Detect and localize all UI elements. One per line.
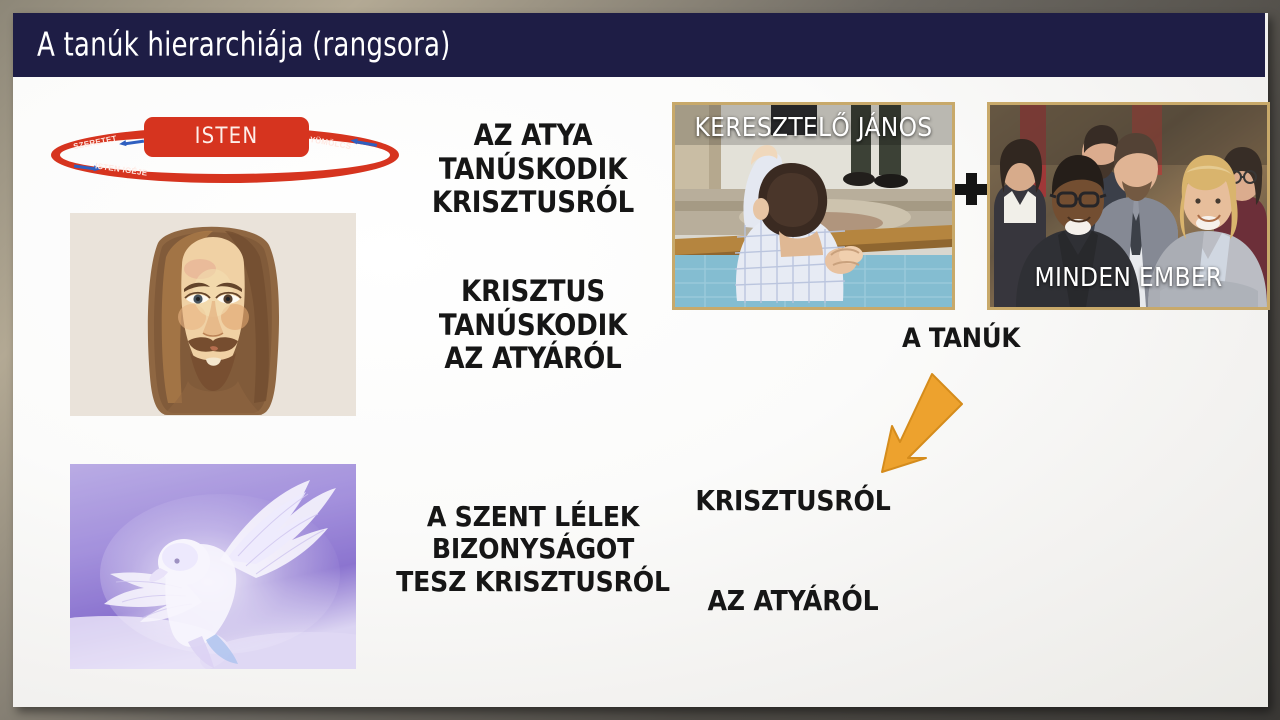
slide-surface: A tanúk hierarchiája (rangsora) SZERETET… [13, 13, 1268, 707]
baptism-photo: KERESZTELŐ JÁNOS [672, 102, 955, 310]
holy-spirit-dove [70, 464, 356, 669]
slide-title-bar: A tanúk hierarchiája (rangsora) [13, 13, 1265, 77]
father-witness-line-1: AZ ATYA [421, 119, 645, 153]
christ-witness-text: KRISZTUS TANÚSKODIK AZ ATYÁRÓL [421, 275, 645, 376]
plus-icon [955, 173, 987, 205]
about-christ-label: KRISZTUSRÓL [673, 485, 913, 517]
jesus-watercolor-portrait [70, 213, 356, 416]
witnesses-label: A TANÚK [871, 323, 1051, 354]
photo-caption-baptism: KERESZTELŐ JÁNOS [675, 113, 952, 143]
christ-witness-line-1: KRISZTUS [421, 275, 645, 309]
photo-caption-crowd: MINDEN EMBER [990, 263, 1267, 293]
group-of-people-photo: MINDEN EMBER [987, 102, 1270, 310]
spirit-witness-line-3: TESZ KRISZTUSRÓL [391, 566, 675, 598]
isten-cycle-diagram: SZERETET ISTEN IGÉJE GYÜMÖLCS ISTEN [51, 117, 401, 189]
father-witness-line-3: KRISZTUSRÓL [421, 186, 645, 220]
christ-witness-line-2: TANÚSKODIK [421, 309, 645, 343]
christ-witness-line-3: AZ ATYÁRÓL [421, 342, 645, 376]
spirit-witness-text: A SZENT LÉLEK BIZONYSÁGOT TESZ KRISZTUSR… [391, 501, 675, 598]
page-title-text: A tanúk hierarchiája (rangsora) [37, 25, 451, 64]
about-father-label: AZ ATYÁRÓL [673, 585, 913, 617]
dove-illustration [70, 464, 356, 669]
father-witness-text: AZ ATYA TANÚSKODIK KRISZTUSRÓL [421, 119, 645, 220]
father-witness-line-2: TANÚSKODIK [421, 153, 645, 187]
page-title: A tanúk hierarchiája (rangsora) [37, 25, 507, 64]
spirit-witness-line-1: A SZENT LÉLEK [391, 501, 675, 533]
diagram-center-label: ISTEN [144, 124, 309, 149]
jesus-portrait-illustration [70, 213, 356, 416]
diagram-center-box: ISTEN [144, 117, 309, 157]
spirit-witness-line-2: BIZONYSÁGOT [391, 533, 675, 565]
down-left-arrow-icon [858, 368, 968, 478]
